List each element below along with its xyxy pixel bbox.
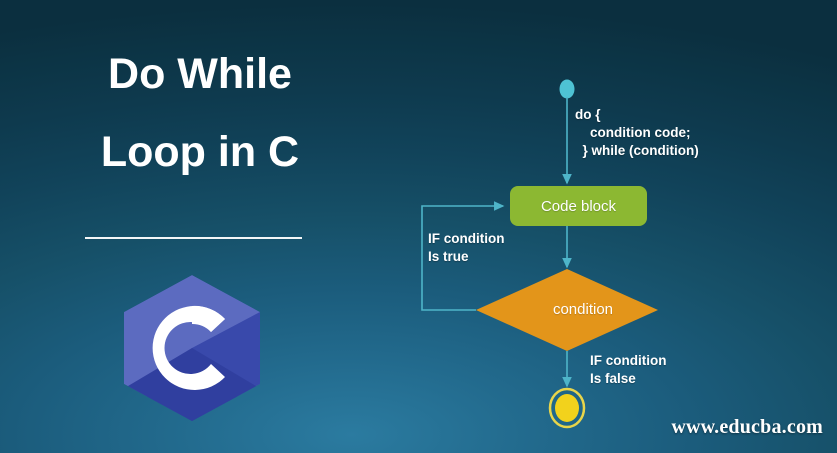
code-snippet: do { condition code; } while (condition) — [575, 106, 699, 160]
title-panel: Do While Loop in C — [0, 0, 400, 453]
code-snippet-line-2: condition code; — [575, 125, 691, 140]
page-title-line-2: Loop in C — [0, 128, 400, 177]
page-title-line-1: Do While — [0, 50, 400, 99]
true-branch-line-1: IF condition — [428, 231, 505, 246]
condition-label: condition — [498, 300, 668, 320]
slide-canvas: Do While Loop in C — [0, 0, 837, 453]
true-branch-line-2: Is true — [428, 249, 469, 264]
flowchart-diagram: do { condition code; } while (condition)… — [400, 0, 837, 453]
true-branch-label: IF condition Is true — [428, 230, 505, 266]
false-branch-label: IF condition Is false — [590, 352, 667, 388]
end-node-icon — [550, 389, 584, 427]
code-block-label: Code block — [510, 196, 647, 218]
false-branch-line-2: Is false — [590, 371, 636, 386]
code-snippet-line-3: } while (condition) — [575, 143, 699, 158]
start-node-icon — [560, 80, 575, 99]
c-language-logo-icon — [118, 272, 266, 424]
code-snippet-line-1: do { — [575, 107, 601, 122]
false-branch-line-1: IF condition — [590, 353, 667, 368]
title-divider — [85, 237, 302, 239]
site-url-watermark: www.educba.com — [671, 416, 823, 439]
